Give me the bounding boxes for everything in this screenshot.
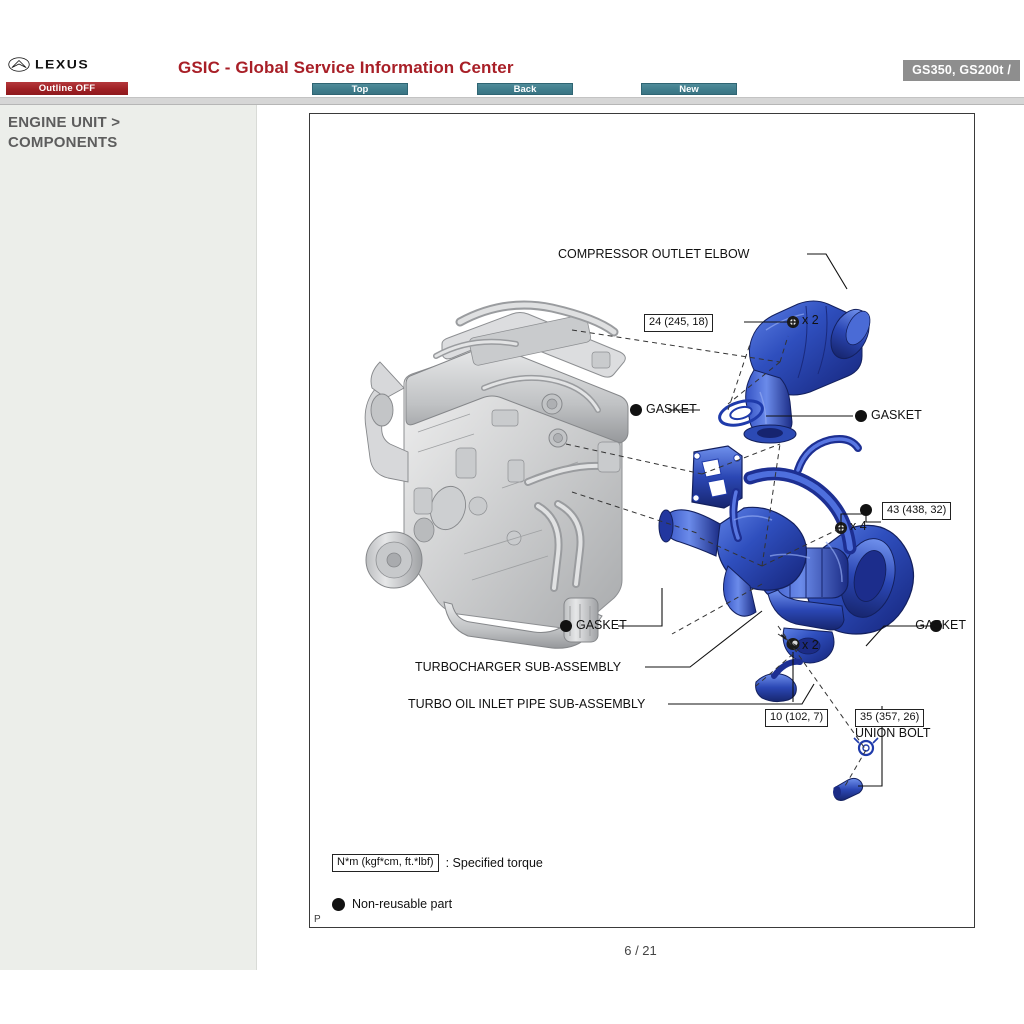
engine-illustration: [365, 305, 628, 648]
torque-spec-35: 35 (357, 26): [855, 709, 924, 727]
legend-torque-box: N*m (kgf*cm, ft.*lbf): [332, 854, 439, 872]
legend-nonreusable: Non-reusable part: [332, 897, 452, 911]
callout-gasket-2: GASKET: [871, 408, 922, 422]
lexus-wordmark: LEXUS: [35, 57, 89, 71]
diagram-artwork: [310, 114, 976, 929]
qty-oil-pipe-bolts: x 2: [802, 638, 819, 652]
model-badge: GS350, GS200t /: [903, 60, 1020, 81]
filled-circle-icon: [332, 898, 345, 911]
callout-gasket-1: GASKET: [646, 402, 697, 416]
legend-nonreusable-text: Non-reusable part: [352, 897, 452, 911]
callout-turbocharger-sub-assembly: TURBOCHARGER SUB-ASSEMBLY: [415, 660, 621, 674]
nonreusable-dot-gasket-1: [630, 404, 642, 416]
body-area: ENGINE UNIT > COMPONENTS: [0, 105, 1024, 970]
document-frame: COMPRESSOR OUTLET ELBOW 24 (245, 18) x 2…: [309, 113, 975, 928]
header-divider: [0, 97, 1024, 105]
callout-gasket-4: GASKET: [915, 618, 966, 632]
breadcrumb-line-2: COMPONENTS: [8, 133, 248, 153]
gasket-ring-part: [854, 738, 878, 755]
torque-spec-24: 24 (245, 18): [644, 314, 713, 332]
legend-torque-text: : Specified torque: [446, 856, 543, 870]
app-window: LEXUS Outline OFF GSIC - Global Service …: [0, 0, 1024, 1024]
nav-back-button[interactable]: Back: [477, 83, 573, 95]
torque-spec-43: 43 (438, 32): [882, 502, 951, 520]
content-pane: COMPRESSOR OUTLET ELBOW 24 (245, 18) x 2…: [257, 105, 1024, 970]
lexus-emblem-icon: [8, 57, 30, 72]
callout-union-bolt: UNION BOLT: [855, 726, 930, 740]
nav-top-button[interactable]: Top: [312, 83, 408, 95]
legend-torque: N*m (kgf*cm, ft.*lbf) : Specified torque: [332, 854, 543, 872]
nav-new-button[interactable]: New: [641, 83, 737, 95]
page-marker: P: [314, 914, 321, 925]
torque-spec-10: 10 (102, 7): [765, 709, 828, 727]
nonreusable-dot-gasket-3: [560, 620, 572, 632]
app-header: LEXUS Outline OFF GSIC - Global Service …: [0, 0, 1024, 96]
breadcrumb-line-1: ENGINE UNIT >: [8, 113, 248, 133]
components-diagram: COMPRESSOR OUTLET ELBOW 24 (245, 18) x 2…: [310, 114, 976, 929]
page-number: 6 / 21: [257, 943, 1024, 958]
nonreusable-dot-torque-43: [860, 504, 872, 516]
callout-gasket-3: GASKET: [576, 618, 627, 632]
page-title: GSIC - Global Service Information Center: [178, 58, 514, 78]
breadcrumb: ENGINE UNIT > COMPONENTS: [8, 113, 248, 153]
qty-turbo-bolts: x 4: [850, 519, 867, 533]
callout-compressor-outlet-elbow: COMPRESSOR OUTLET ELBOW: [558, 247, 749, 261]
qty-elbow-bolts: x 2: [802, 313, 819, 327]
callout-turbo-oil-inlet-pipe-sub-assembly: TURBO OIL INLET PIPE SUB-ASSEMBLY: [408, 697, 645, 711]
nonreusable-dot-gasket-2: [855, 410, 867, 422]
outline-toggle-button[interactable]: Outline OFF: [6, 82, 128, 95]
lexus-logo: LEXUS: [8, 56, 89, 72]
sidebar: ENGINE UNIT > COMPONENTS: [0, 105, 257, 970]
